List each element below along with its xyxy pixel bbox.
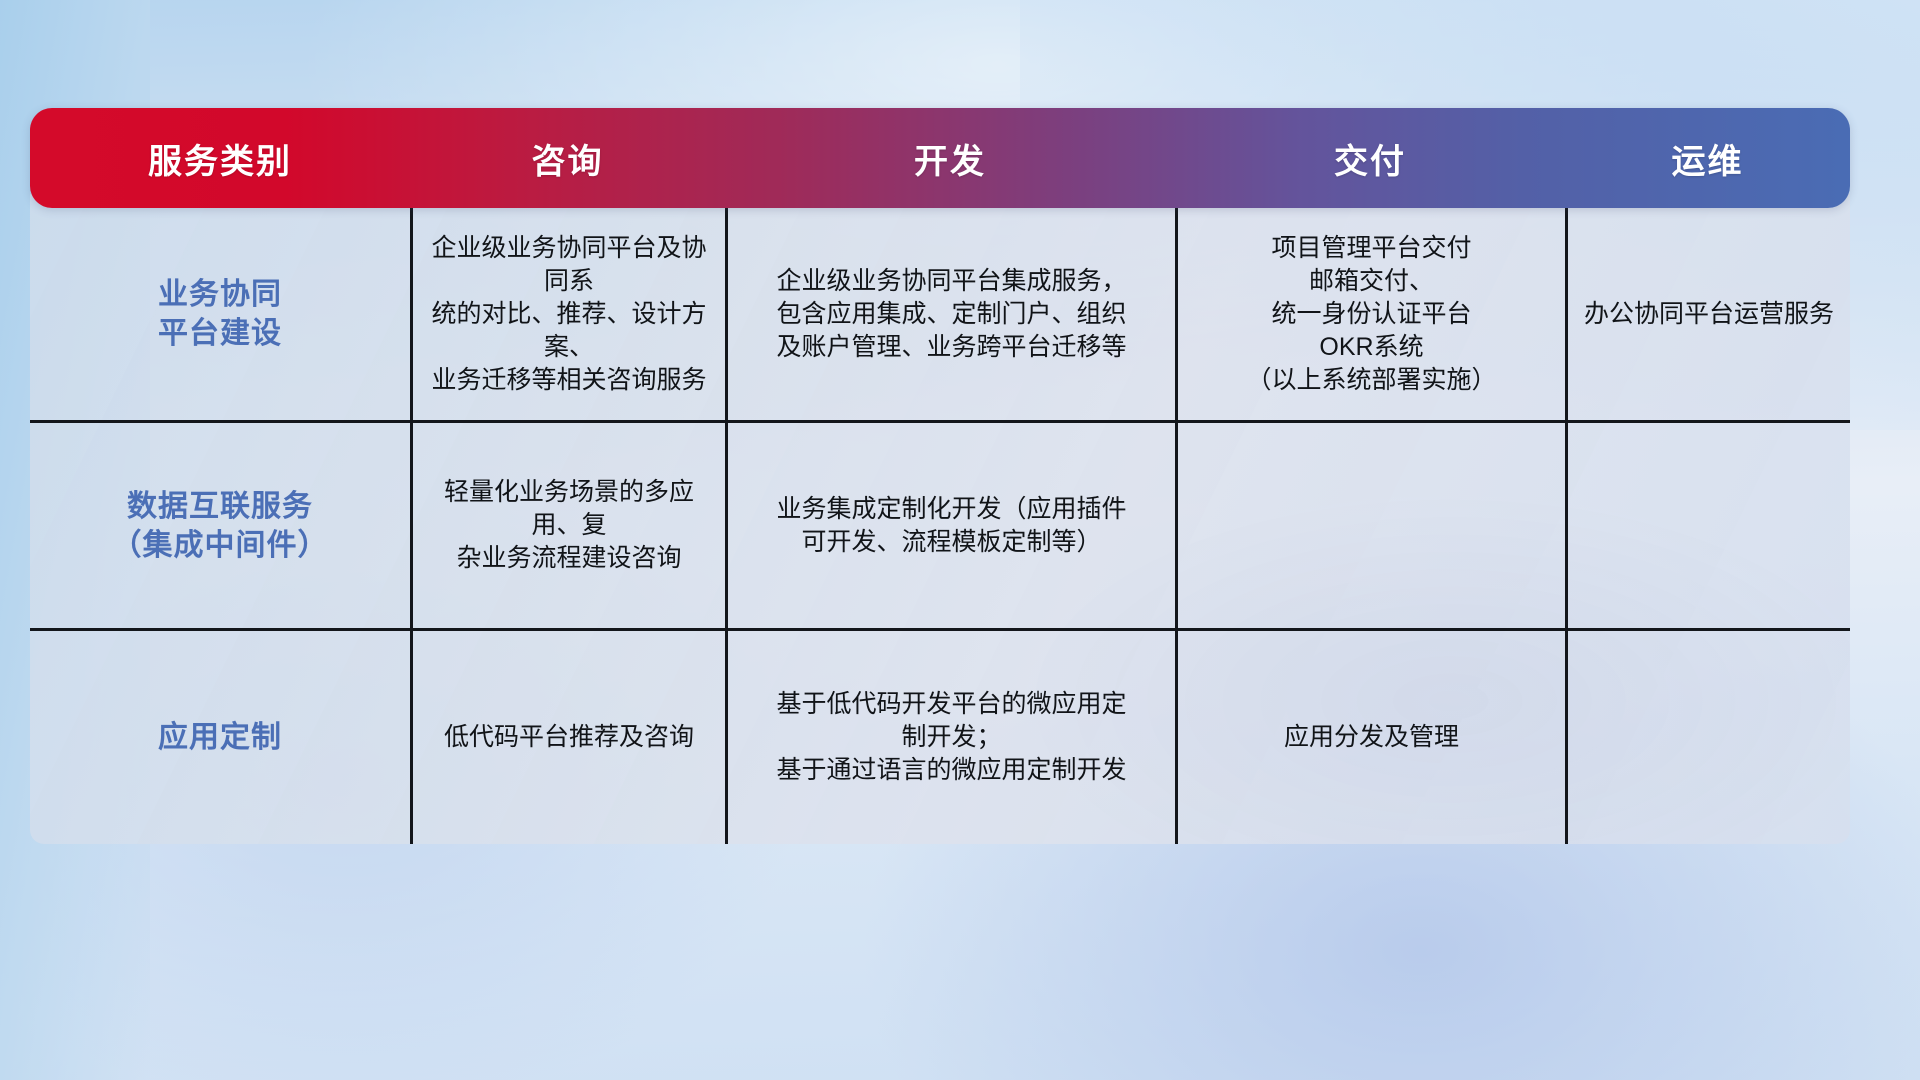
row-category-label: 数据互联服务 （集成中间件） <box>30 423 410 628</box>
table-header-row: 服务类别 咨询 开发 交付 运维 <box>30 108 1850 208</box>
cell-consulting: 低代码平台推荐及咨询 <box>410 631 725 844</box>
service-matrix-table: 服务类别 咨询 开发 交付 运维 业务协同 平台建设 企业级业务协同平台及协同系… <box>30 108 1850 844</box>
cell-delivery <box>1175 423 1565 628</box>
table-grid: 业务协同 平台建设 企业级业务协同平台及协同系 统的对比、推荐、设计方案、 业务… <box>30 208 1850 844</box>
cell-operations: 办公协同平台运营服务 <box>1565 208 1850 420</box>
cell-development: 基于低代码开发平台的微应用定 制开发； 基于通过语言的微应用定制开发 <box>725 631 1175 844</box>
column-header-consulting: 咨询 <box>410 108 725 208</box>
table-row: 业务协同 平台建设 企业级业务协同平台及协同系 统的对比、推荐、设计方案、 业务… <box>30 208 1850 420</box>
column-header-service-category: 服务类别 <box>30 108 410 208</box>
cell-delivery: 应用分发及管理 <box>1175 631 1565 844</box>
row-category-label: 业务协同 平台建设 <box>30 208 410 420</box>
cell-operations <box>1565 423 1850 628</box>
table-body-panel: 业务协同 平台建设 企业级业务协同平台及协同系 统的对比、推荐、设计方案、 业务… <box>30 194 1850 844</box>
cell-operations <box>1565 631 1850 844</box>
cell-consulting: 企业级业务协同平台及协同系 统的对比、推荐、设计方案、 业务迁移等相关咨询服务 <box>410 208 725 420</box>
row-category-label: 应用定制 <box>30 631 410 844</box>
table-row: 应用定制 低代码平台推荐及咨询 基于低代码开发平台的微应用定 制开发； 基于通过… <box>30 628 1850 844</box>
cell-development: 企业级业务协同平台集成服务， 包含应用集成、定制门户、组织 及账户管理、业务跨平… <box>725 208 1175 420</box>
column-header-development: 开发 <box>725 108 1175 208</box>
cell-consulting: 轻量化业务场景的多应用、复 杂业务流程建设咨询 <box>410 423 725 628</box>
column-header-operations: 运维 <box>1565 108 1850 208</box>
table-row: 数据互联服务 （集成中间件） 轻量化业务场景的多应用、复 杂业务流程建设咨询 业… <box>30 420 1850 628</box>
column-header-delivery: 交付 <box>1175 108 1565 208</box>
cell-development: 业务集成定制化开发（应用插件 可开发、流程模板定制等） <box>725 423 1175 628</box>
cell-delivery: 项目管理平台交付 邮箱交付、 统一身份认证平台 OKR系统 （以上系统部署实施） <box>1175 208 1565 420</box>
